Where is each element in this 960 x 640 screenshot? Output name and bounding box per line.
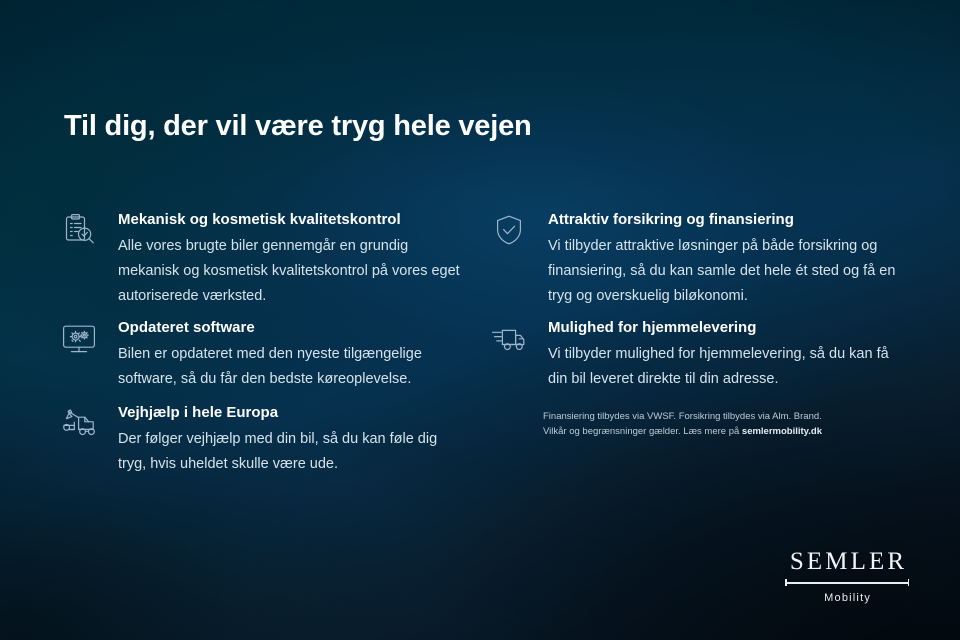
feature-text-block: Opdateret software Bilen er opdateret me… <box>118 318 460 392</box>
slide-canvas: Til dig, der vil være tryg hele vejen <box>0 0 960 640</box>
legal-line-1: Finansiering tilbydes via VWSF. Forsikri… <box>543 409 893 424</box>
legal-disclaimer: Finansiering tilbydes via VWSF. Forsikri… <box>543 409 893 439</box>
page-title: Til dig, der vil være tryg hele vejen <box>64 110 532 143</box>
monitor-gears-icon <box>60 320 100 360</box>
feature-item-insurance-financing: Attraktiv forsikring og finansiering Vi … <box>490 210 900 309</box>
feature-item-quality-control: Mekanisk og kosmetisk kvalitetskontrol A… <box>60 210 460 309</box>
feature-body: Der følger vejhjælp med din bil, så du k… <box>118 427 460 477</box>
feature-body: Bilen er opdateret med den nyeste tilgæn… <box>118 342 460 392</box>
logo-subtitle: Mobility <box>782 592 912 604</box>
feature-title: Mulighed for hjemmelevering <box>548 318 900 338</box>
feature-text-block: Attraktiv forsikring og finansiering Vi … <box>548 210 900 309</box>
slide-content: Til dig, der vil være tryg hele vejen <box>0 0 960 640</box>
feature-body: Vi tilbyder attraktive løsninger på både… <box>548 234 900 309</box>
semler-mobility-logo: SEMLER Mobility <box>782 548 912 604</box>
feature-item-home-delivery: Mulighed for hjemmelevering Vi tilbyder … <box>490 318 900 392</box>
legal-line-2: Vilkår og begrænsninger gælder. Læs mere… <box>543 424 893 439</box>
feature-text-block: Mekanisk og kosmetisk kvalitetskontrol A… <box>118 210 460 309</box>
logo-wordmark: SEMLER <box>782 548 912 576</box>
tow-truck-icon <box>60 405 100 445</box>
feature-title: Mekanisk og kosmetisk kvalitetskontrol <box>118 210 460 230</box>
feature-text-block: Vejhjælp i hele Europa Der følger vejhjæ… <box>118 403 460 477</box>
legal-website-link[interactable]: semlermobility.dk <box>742 426 822 437</box>
logo-rule-cap-right <box>908 579 910 586</box>
feature-text-block: Mulighed for hjemmelevering Vi tilbyder … <box>548 318 900 392</box>
feature-item-updated-software: Opdateret software Bilen er opdateret me… <box>60 318 460 392</box>
shield-check-icon <box>490 212 530 252</box>
clipboard-magnifier-icon <box>60 212 100 252</box>
legal-line-2-text: Vilkår og begrænsninger gælder. Læs mere… <box>543 426 742 437</box>
feature-item-roadside-assistance: Vejhjælp i hele Europa Der følger vejhjæ… <box>60 403 460 477</box>
feature-title: Opdateret software <box>118 318 460 338</box>
feature-title: Vejhjælp i hele Europa <box>118 403 460 423</box>
feature-body: Vi tilbyder mulighed for hjemmelevering,… <box>548 342 900 392</box>
delivery-truck-icon <box>490 320 530 360</box>
logo-rule-bar <box>785 582 909 584</box>
logo-divider-rule <box>782 579 912 587</box>
feature-title: Attraktiv forsikring og finansiering <box>548 210 900 230</box>
feature-body: Alle vores brugte biler gennemgår en gru… <box>118 234 460 309</box>
